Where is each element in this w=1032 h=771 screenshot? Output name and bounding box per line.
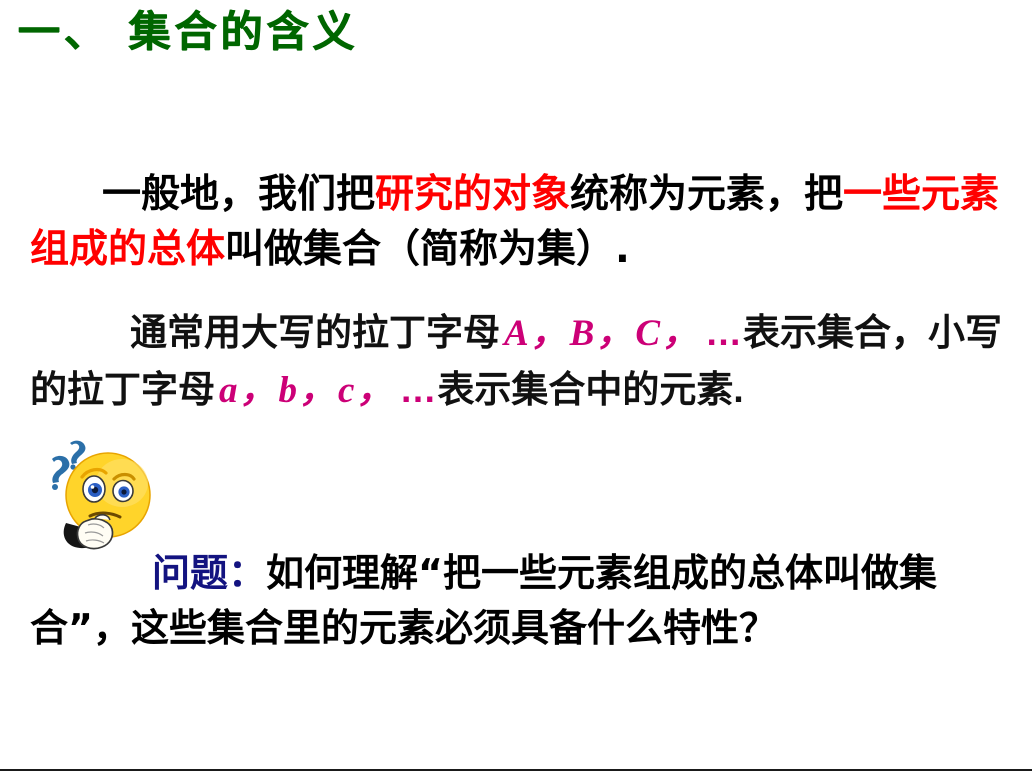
definition-paragraph: 一般地，我们把研究的对象统称为元素，把一些元素组成的总体叫做集合（简称为集）. (30, 167, 1010, 278)
page-title: 一、 集合的含义 (18, 8, 359, 56)
definition-highlight-research-object: 研究的对象 (375, 172, 570, 217)
notation-part-1: 通常用大写的拉丁字母 (130, 312, 500, 353)
uppercase-letters: A，B，C， (500, 313, 705, 354)
ellipsis-uppercase: … (705, 312, 743, 353)
definition-lead: 一般地，我们把 (102, 172, 375, 217)
lowercase-letters: a，b，c， (215, 370, 399, 411)
thinking-face-icon (40, 437, 158, 555)
question-paragraph: 问题：如何理解“把一些元素组成的总体叫做集合”，这些集合里的元素必须具备什么特性… (30, 546, 1015, 656)
ellipsis-lowercase: … (399, 369, 437, 410)
question-label: 问题： (152, 551, 266, 595)
notation-part-3: 表示集合中的元素. (437, 369, 743, 410)
definition-middle: 统称为元素，把 (570, 172, 843, 217)
notation-paragraph: 通常用大写的拉丁字母A，B，C，…表示集合，小写的拉丁字母a，b，c，…表示集合… (30, 305, 1015, 418)
slide-canvas: 一、 集合的含义 一般地，我们把研究的对象统称为元素，把一些元素组成的总体叫做集… (0, 0, 1032, 771)
definition-tail: 叫做集合（简称为集）. (225, 227, 630, 272)
